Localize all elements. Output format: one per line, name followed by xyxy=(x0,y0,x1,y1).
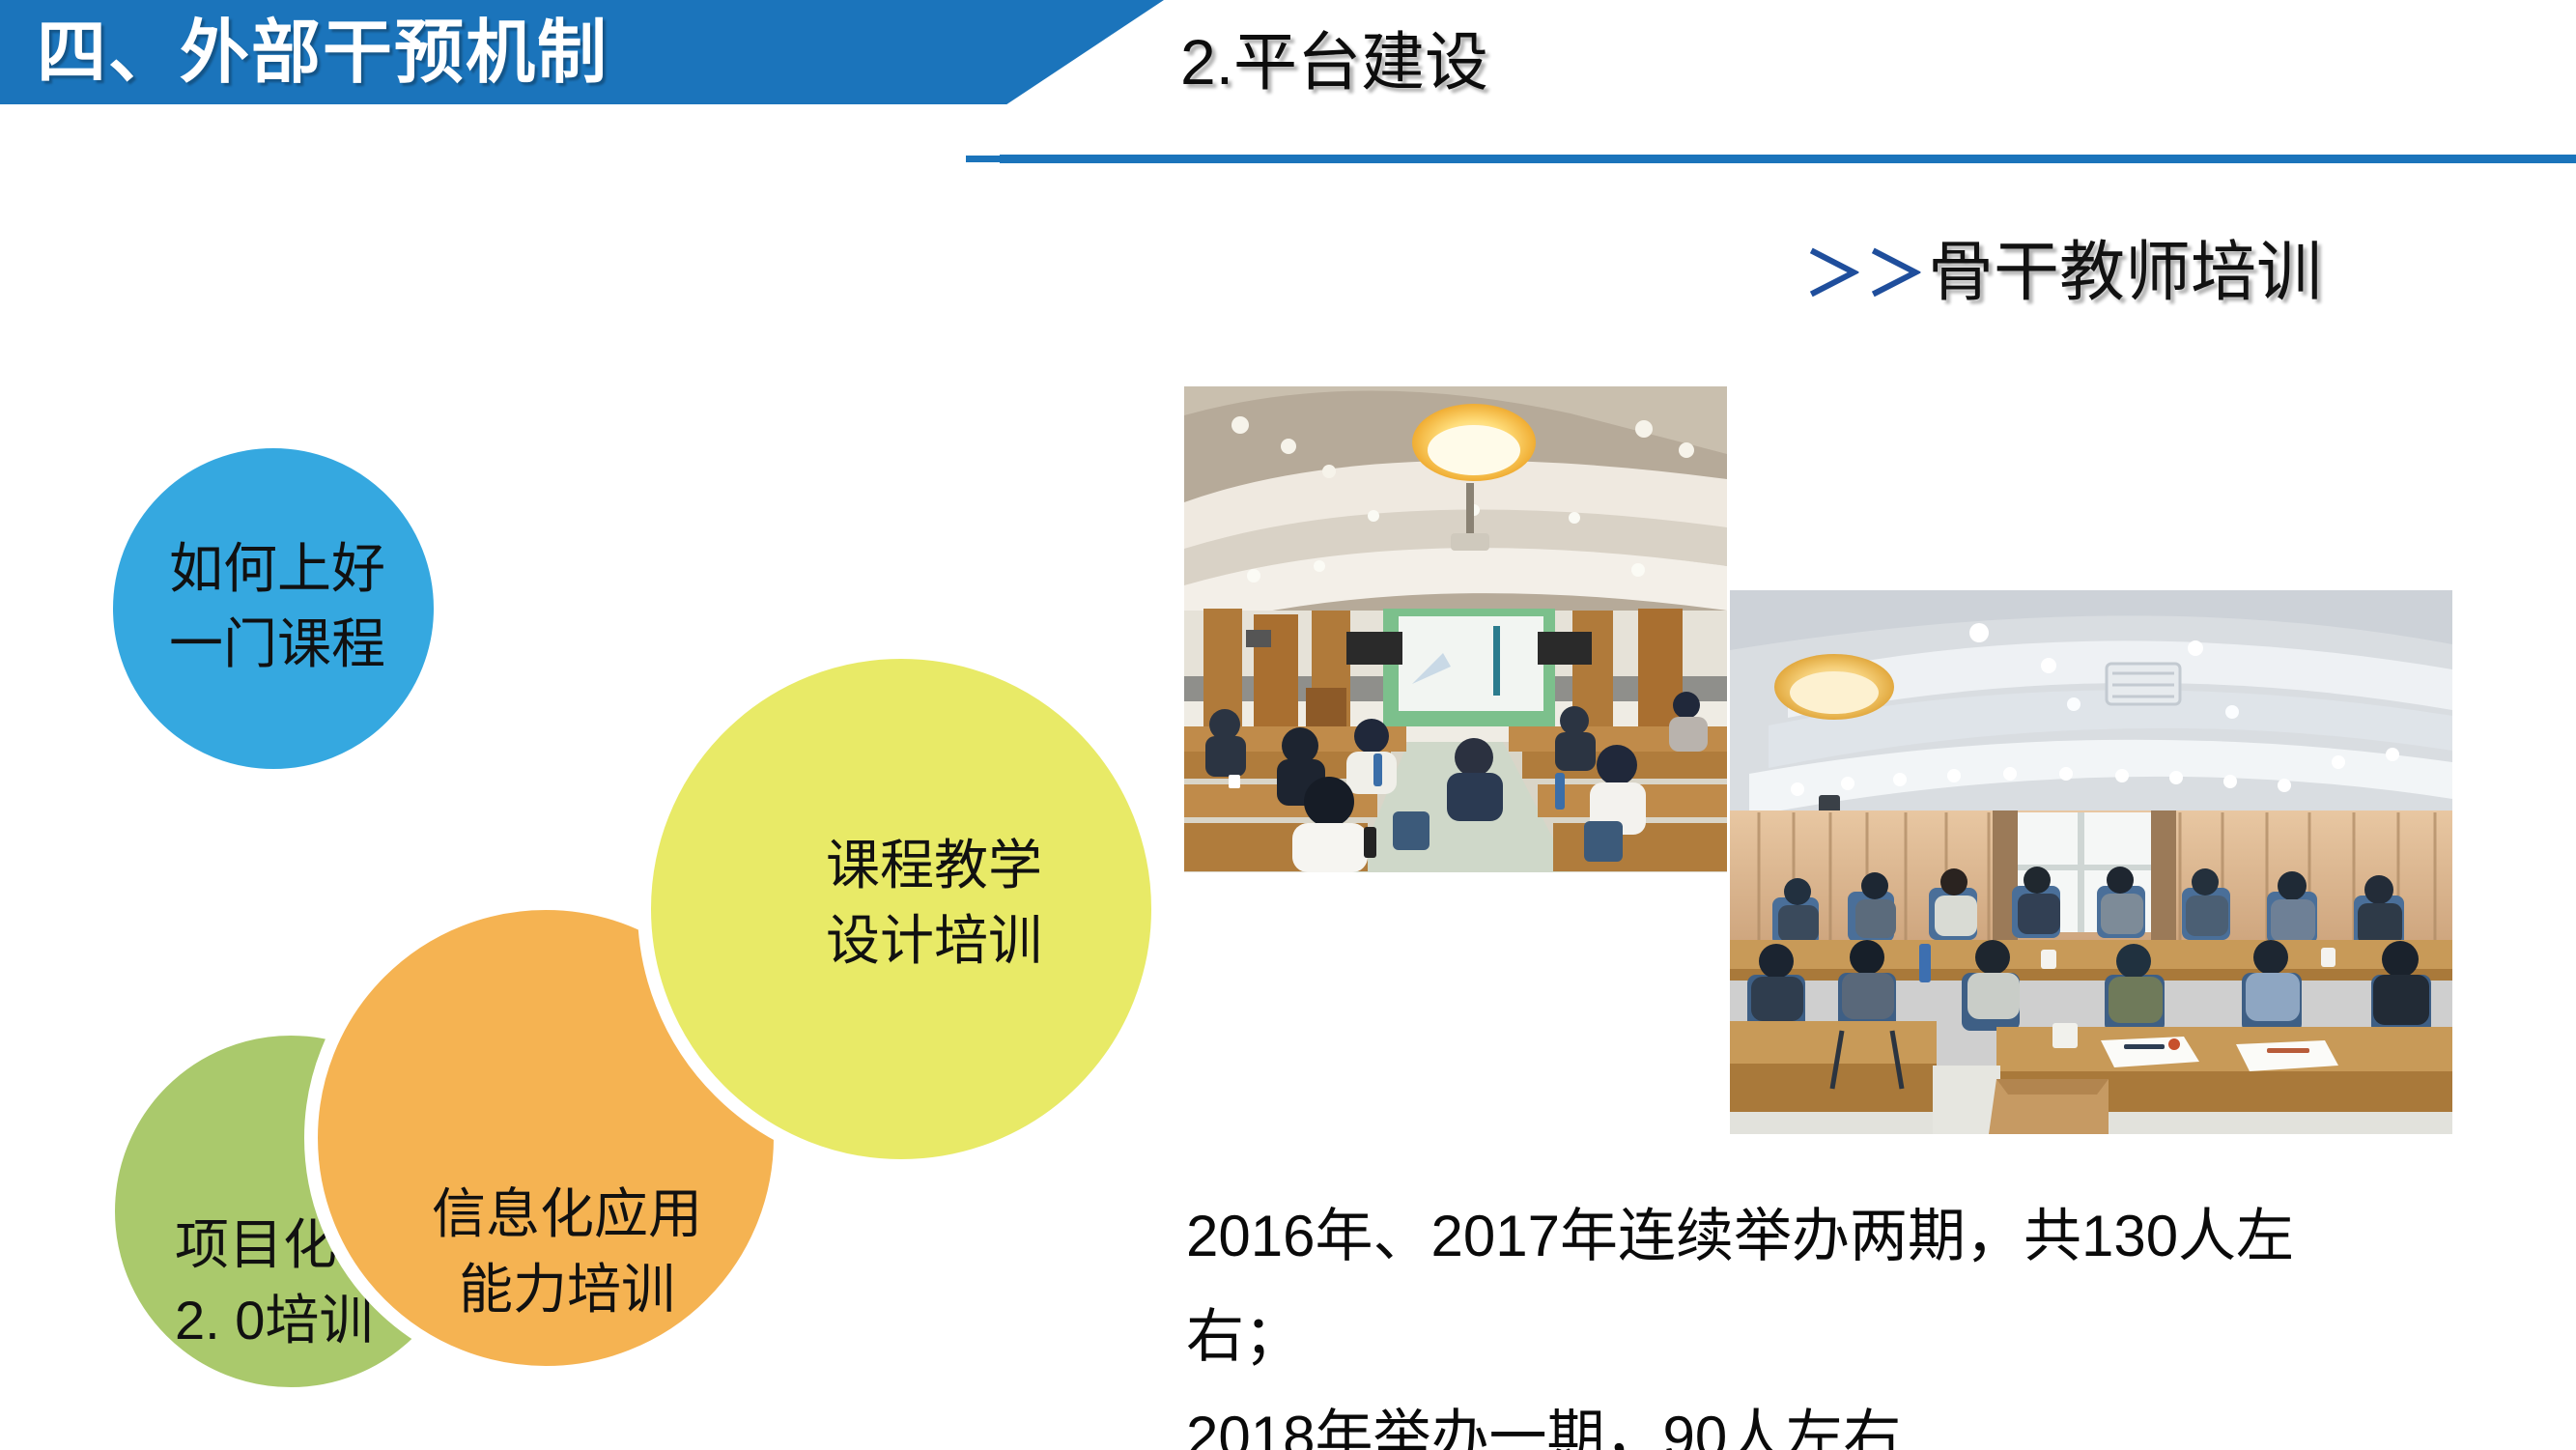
body-paragraph: 2016年、2017年连续举办两期，共130人左 右； 2018年举办一期，90… xyxy=(1186,1186,2471,1450)
subsection-caption: ＞＞骨干教师培训 xyxy=(1804,232,2322,331)
body-line-1: 2016年、2017年连续举办两期，共130人左 xyxy=(1186,1186,2471,1287)
header-rule xyxy=(1000,155,2576,163)
header-banner-label: 四、外部干预机制 xyxy=(37,15,609,91)
page-title: 2.平台建设 xyxy=(1180,23,1488,100)
header-rule-left-stub xyxy=(966,156,1005,162)
venn-blue-line-2: 一门课程 xyxy=(161,607,385,682)
venn-circle-blue: 如何上好 一门课程 xyxy=(99,435,447,782)
venn-yellow-line-2: 设计培训 xyxy=(826,903,1042,979)
subsection-caption-label: 骨干教师培训 xyxy=(1928,236,2322,309)
venn-orange-line-1: 信息化应用 xyxy=(432,1177,702,1252)
venn-green-line-2: 2. 0培训 xyxy=(175,1283,373,1358)
venn-blue-line-1: 如何上好 xyxy=(161,531,385,607)
venn-diagram: 项目化 2. 0培训 信息化应用 能力培训 课程教学 设计培训 如何上好 一门课… xyxy=(58,406,1149,1381)
double-chevron-right-icon: ＞＞ xyxy=(1804,242,1928,308)
body-line-2: 右； xyxy=(1186,1287,2471,1387)
photo-lecture-hall-front xyxy=(1184,386,1727,872)
slide-canvas: 四、外部干预机制 2.平台建设 ＞＞骨干教师培训 项目化 2. 0培训 信息化应… xyxy=(0,0,2576,1450)
venn-orange-line-2: 能力培训 xyxy=(432,1252,702,1327)
photo-lecture-hall-front-graphic xyxy=(1184,386,1727,872)
body-line-3: 2018年举办一期，90人左右 xyxy=(1186,1387,2471,1450)
photo-lecture-hall-audience xyxy=(1727,587,2452,1134)
venn-circle-yellow: 课程教学 设计培训 xyxy=(637,645,1165,1173)
venn-yellow-line-1: 课程教学 xyxy=(826,828,1042,903)
photo-lecture-hall-audience-graphic xyxy=(1730,590,2452,1134)
